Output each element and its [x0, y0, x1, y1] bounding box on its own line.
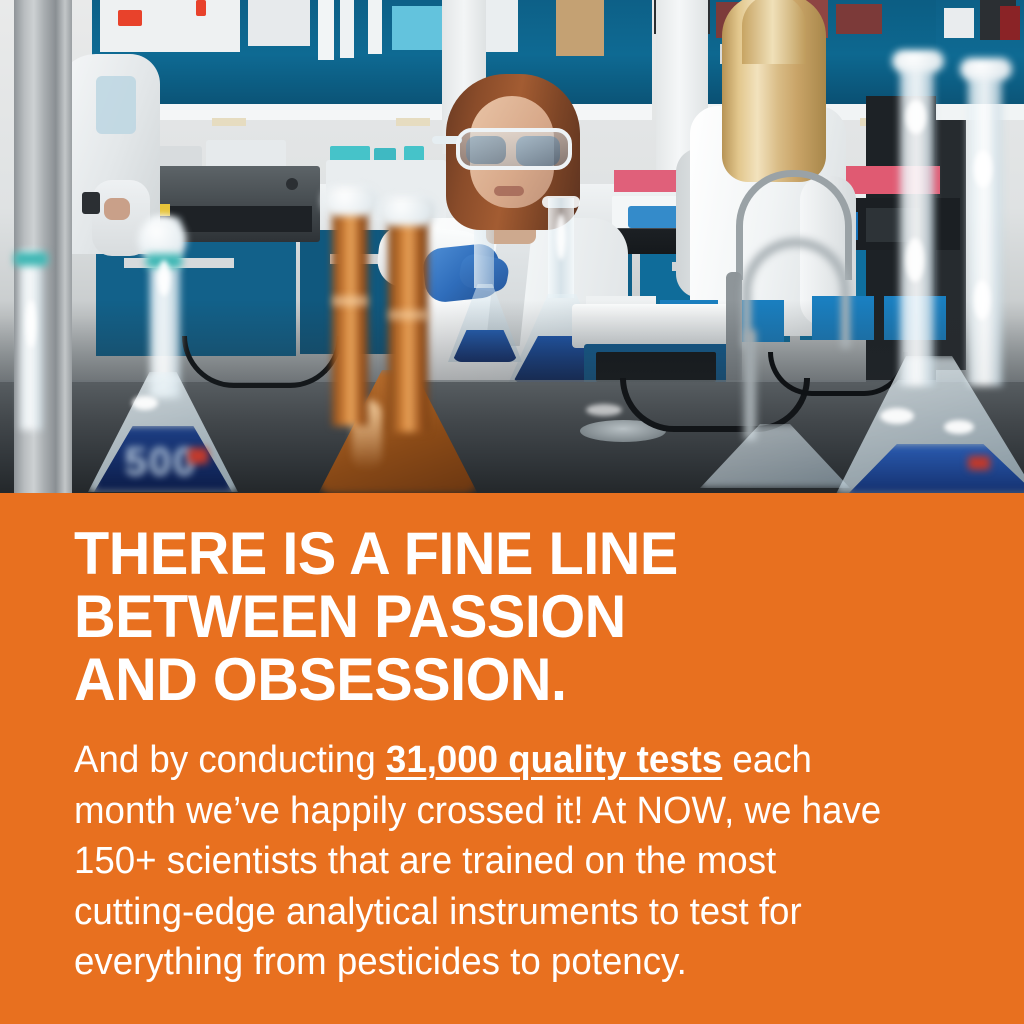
scientist-center-mouth	[494, 186, 524, 196]
glass-highlight-4	[974, 280, 990, 320]
glass-stand-leg	[744, 330, 756, 440]
right-shelf-item-7	[1000, 6, 1020, 40]
glass-highlight-7	[158, 260, 170, 296]
shelf-bottle-3	[368, 0, 382, 54]
shelf-box-1	[100, 0, 240, 52]
goggles-lens-left	[466, 136, 506, 164]
shelf-tan-box	[556, 0, 604, 56]
social-media-card: 500 THERE IS A FINE LINE BET	[0, 0, 1024, 1024]
amber-flask-neck-1	[332, 196, 368, 426]
page-title: THERE IS A FINE LINE BETWEEN PASSION AND…	[74, 522, 919, 711]
shelf-red-label-2	[196, 0, 206, 16]
foreground-flask-right-stopper-2	[960, 58, 1012, 80]
glass-highlight-8	[132, 396, 158, 410]
bench-cable-1	[620, 378, 810, 432]
flask-red-marking	[188, 448, 208, 464]
cabinet-tab-2	[396, 118, 430, 126]
shelf-bottle-2	[340, 0, 354, 58]
amber-flask-stopper-1	[322, 186, 378, 216]
glass-highlight-3	[974, 150, 992, 188]
amber-flask-ring-2	[388, 310, 428, 320]
foreground-flask-right-stopper-1	[892, 50, 944, 72]
scientist-right-hair-highlight	[742, 0, 806, 64]
glass-highlight-2	[906, 238, 924, 282]
cabinet-tab-1	[212, 118, 246, 126]
glass-highlight-5	[880, 408, 914, 424]
body-text-before: And by conducting	[74, 739, 386, 781]
pipette-teal-cap-1	[14, 252, 48, 266]
foreground-flask-right-marking	[968, 456, 990, 470]
shelf-bottle-1	[318, 0, 334, 60]
glass-stand-arc	[742, 238, 850, 348]
glass-highlight-1	[906, 100, 926, 134]
body-copy: And by conducting 31,000 quality tests e…	[74, 735, 906, 988]
scientist-left-device	[82, 192, 100, 214]
quality-tests-highlight: 31,000 quality tests	[386, 739, 722, 781]
right-shelf-item-4	[836, 4, 882, 34]
right-shelf-item-8	[944, 8, 974, 38]
instrument-left-knob	[286, 178, 298, 190]
bench-cable-3	[768, 352, 908, 396]
scientist-left-scarf	[96, 76, 136, 134]
glass-highlight-6	[944, 420, 974, 434]
foreground-flask-right-neck-2	[968, 66, 1002, 386]
goggles-lens-right	[516, 136, 560, 166]
amber-flask-ring-1	[332, 296, 368, 306]
glass-highlight-9	[26, 300, 36, 348]
glass-highlight-10	[556, 214, 566, 260]
shelf-red-label-1	[118, 10, 142, 26]
scientist-left-hand	[104, 198, 130, 220]
glass-highlight-11	[586, 404, 622, 416]
amber-flask-stopper-2	[378, 196, 436, 226]
shelf-box-2	[248, 0, 310, 46]
held-flask-neck	[474, 230, 494, 288]
lab-photo: 500	[0, 0, 1024, 494]
